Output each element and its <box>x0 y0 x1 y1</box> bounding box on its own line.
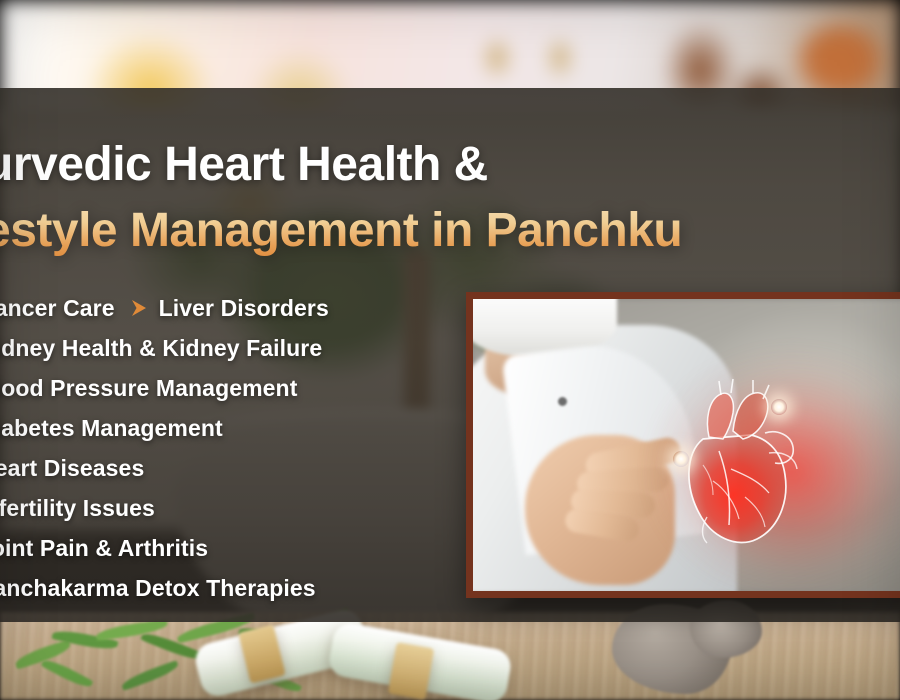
collar-button <box>558 397 567 406</box>
service-label: Joint Pain & Arthritis <box>0 535 208 562</box>
banner-root: urvedic Heart Health & estyle Management… <box>0 0 900 700</box>
list-item[interactable]: Panchakarma Detox Therapies <box>0 568 470 608</box>
list-item[interactable]: Kidney Health & Kidney Failure <box>0 328 470 368</box>
list-item[interactable]: Heart Diseases <box>0 448 470 488</box>
headline-line-2: estyle Management in Panchku <box>0 198 900 264</box>
glow-spark <box>771 399 787 415</box>
service-label: Infertility Issues <box>0 495 155 522</box>
headline-block: urvedic Heart Health & estyle Management… <box>0 132 900 264</box>
service-label-secondary: Liver Disorders <box>159 295 329 322</box>
list-item[interactable]: Diabetes Management <box>0 408 470 448</box>
list-item[interactable]: Infertility Issues <box>0 488 470 528</box>
hero-image <box>473 299 900 591</box>
list-item[interactable]: Cancer Care Liver Disorders <box>0 288 470 328</box>
chevron-right-icon <box>127 297 153 319</box>
service-label: Panchakarma Detox Therapies <box>0 575 316 602</box>
hero-image-frame <box>466 292 900 598</box>
headline-line-1: urvedic Heart Health & <box>0 132 900 198</box>
glow-spark <box>673 451 689 467</box>
service-label: Heart Diseases <box>0 455 144 482</box>
list-item[interactable]: Blood Pressure Management <box>0 368 470 408</box>
service-label: Kidney Health & Kidney Failure <box>0 335 322 362</box>
service-label: Cancer Care <box>0 295 115 322</box>
services-list: Cancer Care Liver Disorders Kidney Healt… <box>0 288 470 608</box>
service-label: Diabetes Management <box>0 415 223 442</box>
list-item[interactable]: Joint Pain & Arthritis <box>0 528 470 568</box>
service-label: Blood Pressure Management <box>0 375 297 402</box>
